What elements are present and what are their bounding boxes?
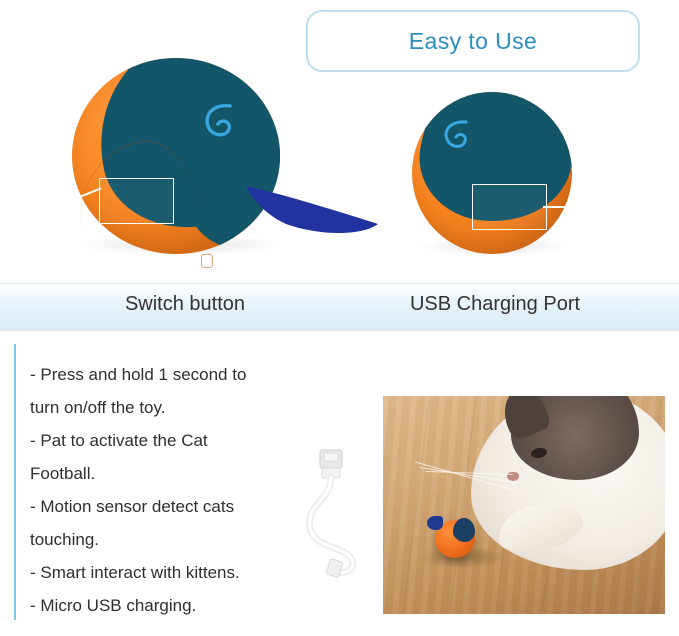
product-illustration-area (0, 0, 679, 283)
feature-section: - Press and hold 1 second to turn on/off… (0, 330, 679, 636)
switch-callout-leader-vertical (77, 200, 79, 284)
caption-usb-charging-port: USB Charging Port (350, 293, 640, 316)
list-item: turn on/off the toy. (30, 391, 330, 424)
list-item: - Micro USB charging. (30, 589, 330, 622)
switch-button-callout-box (99, 178, 174, 224)
caption-switch-button: Switch button (40, 293, 330, 316)
accent-rule (14, 344, 16, 620)
left-ball-tail (242, 180, 392, 242)
usb-cable-icon (300, 448, 390, 578)
list-item: - Press and hold 1 second to (30, 358, 330, 391)
switch-button-detail (201, 254, 213, 268)
list-item: touching. (30, 523, 330, 556)
list-item: - Smart interact with kittens. (30, 556, 330, 589)
left-product-ball (72, 58, 280, 254)
lifestyle-photo (383, 396, 665, 614)
usb-port-callout-box (472, 184, 547, 230)
swirl-icon (198, 102, 244, 148)
usb-callout-leader-vertical (648, 206, 650, 284)
list-item: - Pat to activate the Cat (30, 424, 330, 457)
caption-band: Switch button USB Charging Port (0, 283, 679, 330)
section-divider (0, 330, 679, 331)
usb-callout-leader-horizontal (543, 206, 649, 208)
swirl-icon (438, 118, 478, 158)
caption-band-divider (0, 283, 679, 284)
product-infographic: Easy to Use (0, 0, 679, 636)
toy-ball-accent (453, 518, 475, 542)
list-item: - Motion sensor detect cats (30, 490, 330, 523)
list-item: Football. (30, 457, 330, 490)
toy-ball-tail (427, 516, 443, 530)
feature-bullet-list: - Press and hold 1 second to turn on/off… (30, 358, 330, 622)
